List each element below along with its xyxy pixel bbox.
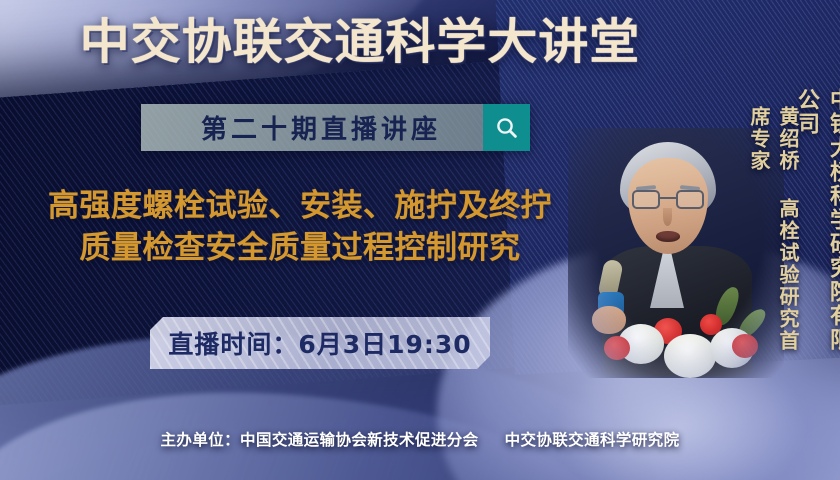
footer-organizers: 主办单位：中国交通运输协会新技术促进分会中交协联交通科学研究院 <box>0 428 840 450</box>
photo-hand <box>592 306 626 334</box>
footer-prefix: 主办单位： <box>161 431 241 449</box>
flower-red-1 <box>604 336 630 360</box>
search-icon <box>494 115 520 141</box>
poster-title: 中交协联交通科学大讲堂 <box>0 18 734 66</box>
live-lecture-poster: 中交协联交通科学大讲堂 第二十期直播讲座 高强度螺栓试验、安装、施拧及终拧 质量… <box>0 0 840 480</box>
footer-organizer-2: 中交协联交通科学研究院 <box>505 431 680 449</box>
live-time-badge: 直播时间：6月3日19:30 <box>150 317 490 369</box>
photo-mouth <box>656 231 680 242</box>
lecture-topic-line-1: 高强度螺栓试验、安装、施拧及终拧 <box>48 188 552 224</box>
search-icon-box[interactable] <box>483 104 530 151</box>
footer-organizer-1: 中国交通运输协会新技术促进分会 <box>240 431 479 449</box>
photo-nose <box>663 208 672 226</box>
live-time-label: 直播时间：6月3日19:30 <box>168 325 471 361</box>
episode-banner: 第二十期直播讲座 <box>141 104 530 151</box>
lecture-topic: 高强度螺栓试验、安装、施拧及终拧 质量检查安全质量过程控制研究 <box>0 186 600 269</box>
episode-label: 第二十期直播讲座 <box>141 104 483 151</box>
photo-eyeglass-bridge <box>660 197 676 199</box>
flower-white-2 <box>664 334 716 378</box>
lecture-topic-line-2: 质量检查安全质量过程控制研究 <box>0 228 600 270</box>
photo-eyeglass-left <box>632 190 660 209</box>
photo-eyeglass-right <box>676 190 704 209</box>
speaker-name-title: 黄绍桥 高栓试验研究首席专家 <box>745 106 803 368</box>
